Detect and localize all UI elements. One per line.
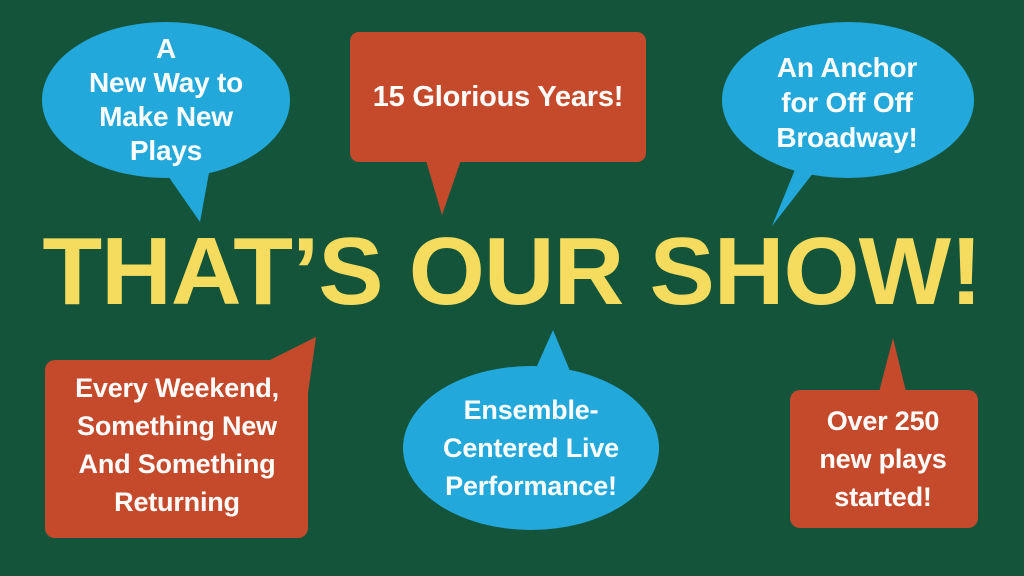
bubble-text-15-years: 15 Glorious Years! (373, 80, 624, 114)
bubble-text-ensemble: Ensemble- Centered Live Performance! (443, 391, 619, 505)
slide-canvas: A New Way to Make New Plays 15 Glorious … (0, 0, 1024, 576)
bubble-label-over-250: Over 250 new plays started! (790, 390, 976, 528)
bubble-label-15-years: 15 Glorious Years! (352, 33, 644, 161)
bubble-label-every-weekend: Every Weekend, Something New And Somethi… (46, 352, 308, 538)
bubble-label-ensemble: Ensemble- Centered Live Performance! (402, 374, 660, 522)
bubble-text-every-weekend: Every Weekend, Something New And Somethi… (75, 369, 279, 521)
bubble-text-new-way: A New Way to Make New Plays (89, 32, 243, 168)
bubble-label-new-way: A New Way to Make New Plays (52, 24, 280, 176)
bubble-text-over-250: Over 250 new plays started! (819, 402, 946, 516)
bubble-label-anchor: An Anchor for Off Off Broadway! (722, 26, 972, 178)
bubble-text-anchor: An Anchor for Off Off Broadway! (776, 50, 917, 155)
page-title: THAT’S OUR SHOW! (0, 224, 1024, 320)
